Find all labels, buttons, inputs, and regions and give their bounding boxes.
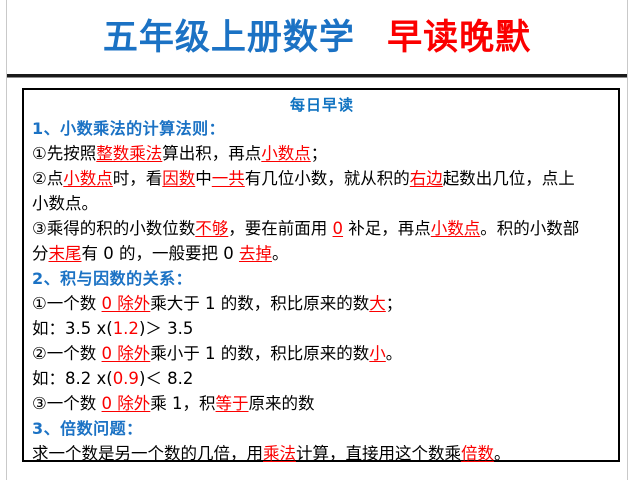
- page-title-accent: 早读晚默: [387, 18, 531, 58]
- section-label: 2、积与因数的关系：: [32, 266, 612, 291]
- text-run: ②一个数: [32, 344, 102, 363]
- text-run: )＞ 3.5: [139, 319, 193, 338]
- content-box: 每日早读 1、小数乘法的计算法则：①先按照整数乘法算出积，再点小数点；②点小数点…: [22, 88, 620, 462]
- highlighted-term: 右边: [410, 169, 443, 188]
- highlighted-term: 小数点: [261, 144, 311, 163]
- highlighted-term: 倍数: [461, 444, 494, 463]
- worksheet-page: 五年级上册数学 早读晚默 每日早读 1、小数乘法的计算法则：①先按照整数乘法算出…: [0, 0, 640, 480]
- text-run: 如：8.2 x(: [32, 369, 113, 388]
- text-run: 。: [494, 444, 511, 463]
- right-margin-rule: [627, 0, 628, 480]
- highlighted-term: 乘法: [263, 444, 296, 463]
- text-run: 计算，直接用这个数乘: [296, 444, 461, 463]
- highlighted-term: 不够: [195, 219, 228, 238]
- highlighted-term: 0 除外: [102, 344, 151, 363]
- body-line: ②点小数点时，看因数中一共有几位小数，就从积的右边起数出几位，点上: [32, 166, 612, 191]
- body-line: 如：8.2 x(0.9)＜ 8.2: [32, 366, 612, 391]
- text-run: 时，看: [113, 169, 163, 188]
- text-run: 。: [386, 344, 403, 363]
- text-run: 如：3.5 x(: [32, 319, 113, 338]
- highlighted-term: 小: [369, 344, 386, 363]
- highlighted-term: 0: [333, 219, 344, 238]
- highlighted-number: 0.9: [113, 369, 139, 388]
- text-run: ，要在前面用: [228, 219, 332, 238]
- text-run: 乘小于 1 的数，积比原来的数: [150, 344, 369, 363]
- text-run: 算出积，再点: [162, 144, 261, 163]
- page-title: 五年级上册数学 早读晚默: [7, 16, 627, 60]
- text-run: 。: [272, 244, 289, 263]
- body-line: ③乘得的积的小数位数不够，要在前面用 0 补足，再点小数点。积的小数部: [32, 216, 612, 241]
- highlighted-term: 去掉: [239, 244, 272, 263]
- content-box-heading: 每日早读: [32, 94, 612, 116]
- highlighted-term: 末尾: [49, 244, 82, 263]
- text-run: ①先按照: [32, 144, 96, 163]
- page-title-main: 五年级上册数学: [103, 18, 355, 58]
- body-line: 分末尾有 0 的，一般要把 0 去掉。: [32, 241, 612, 266]
- sections-container: 1、小数乘法的计算法则：①先按照整数乘法算出积，再点小数点；②点小数点时，看因数…: [32, 116, 612, 466]
- text-run: ；: [386, 294, 403, 313]
- highlighted-term: 因数: [162, 169, 195, 188]
- highlighted-term: 0 除外: [102, 394, 151, 413]
- text-run: 分: [32, 244, 49, 263]
- text-run: 求一个数是另一个数的几倍，用: [32, 444, 263, 463]
- text-run: 有几位小数，就从积的: [245, 169, 410, 188]
- highlighted-term: 小数点: [431, 219, 481, 238]
- text-run: 。积的小数部: [480, 219, 579, 238]
- section-label: 1、小数乘法的计算法则：: [32, 116, 612, 141]
- body-line: 求一个数是另一个数的几倍，用乘法计算，直接用这个数乘倍数。: [32, 441, 612, 466]
- text-run: 小数点。: [32, 194, 98, 213]
- text-run: 乘大于 1 的数，积比原来的数: [150, 294, 369, 313]
- highlighted-term: 整数乘法: [96, 144, 162, 163]
- body-line: ①先按照整数乘法算出积，再点小数点；: [32, 141, 612, 166]
- text-run: 起数出几位，点上: [443, 169, 575, 188]
- highlighted-term: 一共: [212, 169, 245, 188]
- highlighted-term: 大: [369, 294, 386, 313]
- left-margin-rule: [6, 0, 7, 480]
- body-line: 如：3.5 x(1.2)＞ 3.5: [32, 316, 612, 341]
- highlighted-term: 小数点: [63, 169, 113, 188]
- text-run: 乘 1，积: [150, 394, 215, 413]
- title-divider: [7, 74, 627, 78]
- text-run: ③乘得的积的小数位数: [32, 219, 195, 238]
- body-line: ①一个数 0 除外乘大于 1 的数，积比原来的数大；: [32, 291, 612, 316]
- text-run: 补足，再点: [343, 219, 431, 238]
- highlighted-term: 等于: [216, 394, 249, 413]
- body-line: ②一个数 0 除外乘小于 1 的数，积比原来的数小。: [32, 341, 612, 366]
- text-run: ①一个数: [32, 294, 102, 313]
- text-run: 原来的数: [249, 394, 315, 413]
- body-line: 小数点。: [32, 191, 612, 216]
- section-label: 3、倍数问题：: [32, 416, 612, 441]
- text-run: 有 0 的，一般要把 0: [82, 244, 239, 263]
- highlighted-term: 0 除外: [102, 294, 151, 313]
- text-run: ；: [311, 144, 328, 163]
- highlighted-number: 1.2: [113, 319, 139, 338]
- text-run: ②点: [32, 169, 63, 188]
- text-run: 中: [195, 169, 212, 188]
- text-run: )＜ 8.2: [139, 369, 193, 388]
- body-line: ③一个数 0 除外乘 1，积等于原来的数: [32, 391, 612, 416]
- text-run: ③一个数: [32, 394, 102, 413]
